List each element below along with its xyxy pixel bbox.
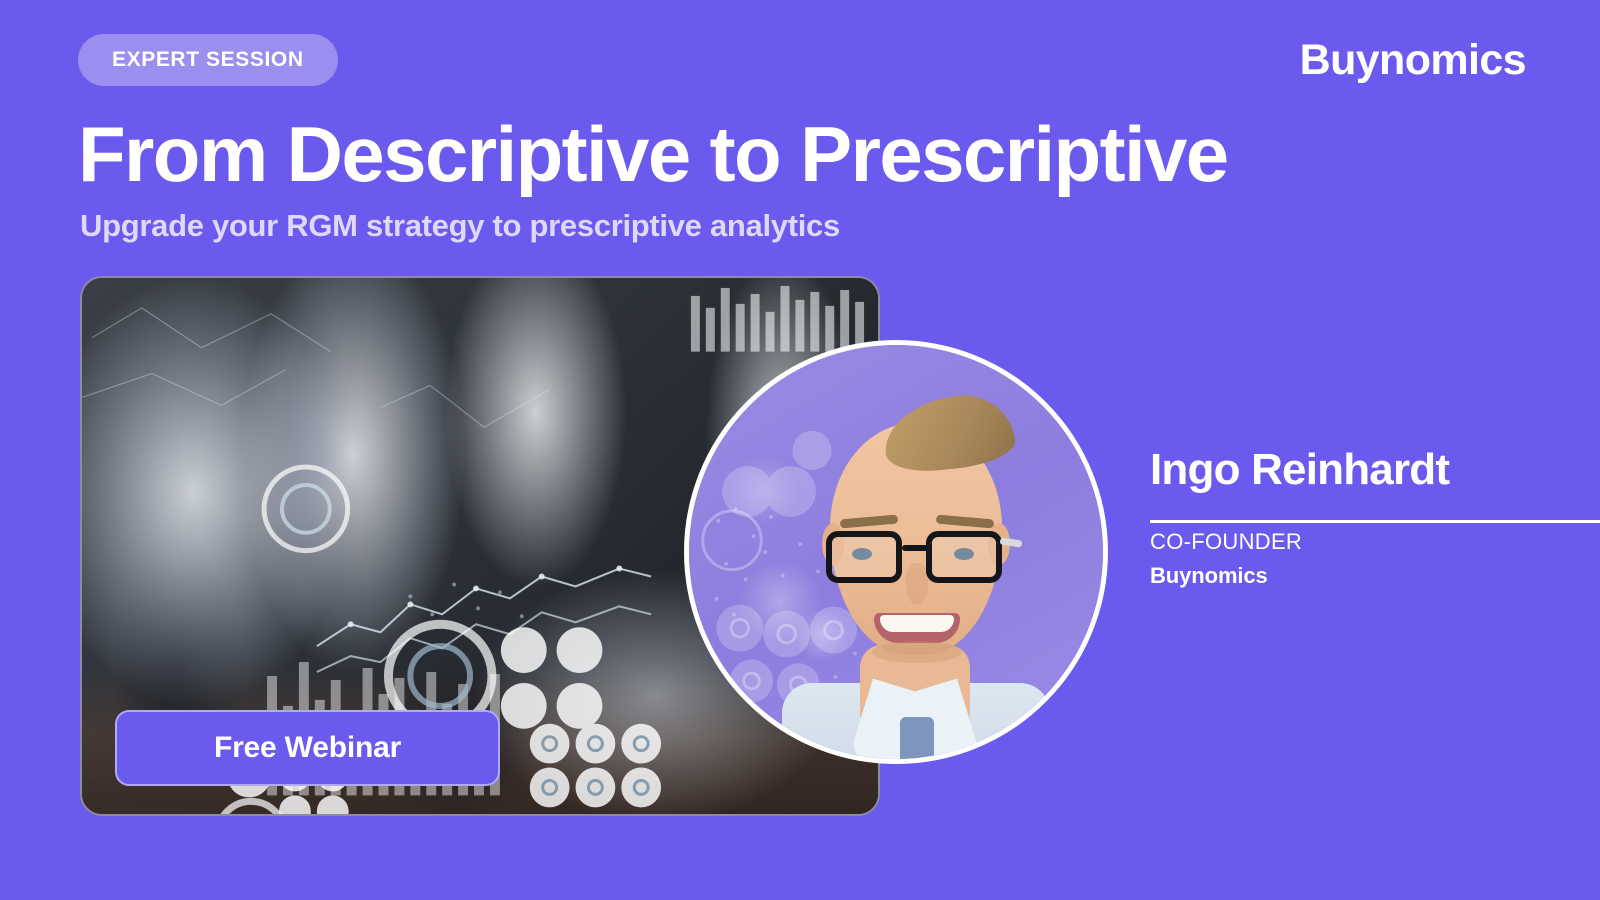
glasses-temple [1000, 538, 1023, 548]
page-title: From Descriptive to Prescriptive [78, 114, 1228, 194]
speaker-divider [1150, 520, 1600, 523]
speaker-company: Buynomics [1150, 563, 1268, 589]
expert-session-badge: EXPERT SESSION [78, 34, 338, 86]
collar-opening [900, 717, 934, 764]
mouth [874, 613, 960, 643]
free-webinar-button[interactable]: Free Webinar [115, 710, 500, 786]
headshot-illustration [764, 345, 1064, 764]
lens-right [926, 531, 1002, 583]
glasses-bridge [902, 545, 930, 551]
speaker-role: CO-FOUNDER [1150, 529, 1302, 555]
avatar [684, 340, 1108, 764]
glasses-icon [822, 531, 1012, 585]
cta-label: Free Webinar [214, 731, 401, 765]
teeth [880, 615, 954, 632]
badge-label: EXPERT SESSION [112, 48, 304, 72]
lens-left [826, 531, 902, 583]
buynomics-logo: Buynomics [1300, 36, 1526, 85]
speaker-name: Ingo Reinhardt [1150, 446, 1600, 494]
chin-shading [872, 641, 962, 663]
speaker-info: Ingo Reinhardt [1150, 446, 1600, 494]
page-subtitle: Upgrade your RGM strategy to prescriptiv… [80, 208, 840, 244]
